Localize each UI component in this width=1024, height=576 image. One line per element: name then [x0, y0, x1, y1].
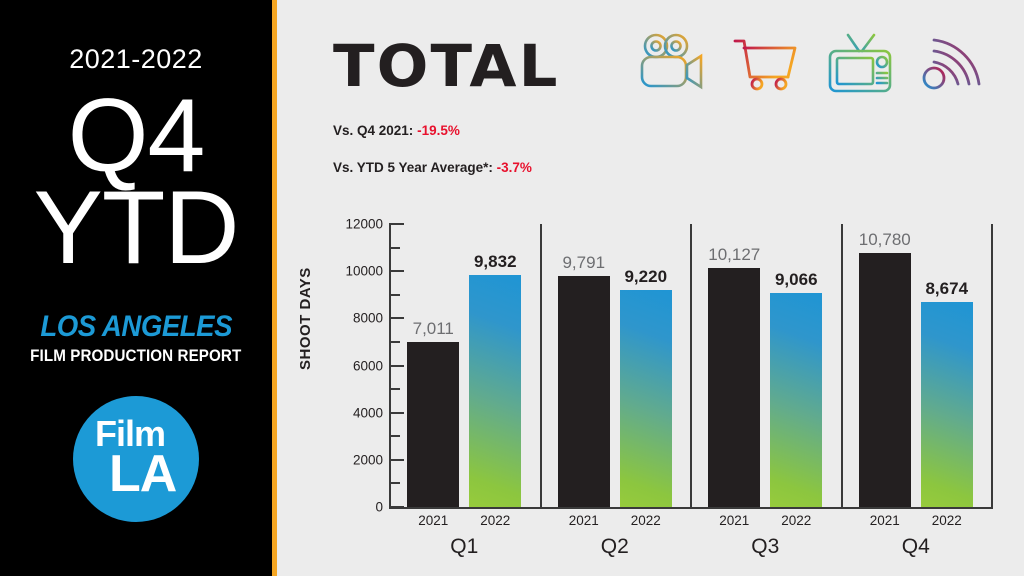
bar-value-label: 10,780 [859, 230, 911, 250]
x-axis-sub-label: 2021 [870, 513, 900, 528]
x-axis-sub-label: 2022 [631, 513, 661, 528]
y-axis-tick-major: 10000 [389, 270, 404, 272]
stat-vs-prior-year: Vs. Q4 2021: -19.5% [333, 123, 460, 138]
report-slide: 2021-2022 Q4 YTD LOS ANGELES FILM PRODUC… [0, 0, 1024, 576]
x-axis-group-label: Q2 [601, 535, 629, 559]
y-axis-tick-label: 0 [375, 500, 383, 515]
y-axis-tick-minor [389, 482, 400, 484]
sidebar: 2021-2022 Q4 YTD LOS ANGELES FILM PRODUC… [0, 0, 272, 576]
wifi-signal-icon [920, 32, 982, 94]
x-axis-sub-label: 2022 [932, 513, 962, 528]
y-axis-tick-major: 6000 [389, 365, 404, 367]
main-content: TOTAL Vs. Q4 2021: -19.5% Vs. YTD 5 Year… [277, 0, 1024, 576]
y-axis-tick-major: 4000 [389, 412, 404, 414]
period-label: 2021-2022 [69, 44, 203, 75]
stat-value: -3.7% [497, 160, 532, 175]
y-axis-tick-major: 2000 [389, 459, 404, 461]
y-axis-tick-major: 8000 [389, 317, 404, 319]
bar-q2-2021: 9,791 [558, 276, 610, 507]
shoot-days-bar-chart: SHOOT DAYS 7,0119,8329,7919,22010,1279,0… [311, 210, 1011, 560]
bar-value-label: 7,011 [413, 319, 454, 339]
y-axis-tick-label: 2000 [353, 452, 383, 467]
bar-q1-2021: 7,011 [407, 342, 459, 507]
y-axis-tick-minor [389, 435, 400, 437]
x-axis-group-label: Q4 [902, 535, 930, 559]
stat-label: Vs. YTD 5 Year Average*: [333, 160, 493, 175]
filmla-logo: Film LA [73, 396, 199, 522]
x-axis-sub-label: 2021 [418, 513, 448, 528]
bar-q4-2021: 10,780 [859, 253, 911, 507]
stat-vs-five-year-average: Vs. YTD 5 Year Average*: -3.7% [333, 160, 532, 175]
y-axis-tick-major: 12000 [389, 223, 404, 225]
stat-label: Vs. Q4 2021: [333, 123, 413, 138]
bar-q1-2022: 9,832 [469, 275, 521, 507]
page-title: TOTAL [333, 32, 560, 100]
y-axis-tick-label: 6000 [353, 358, 383, 373]
brand-city-label: LOS ANGELES [40, 310, 232, 344]
bar-q2-2022: 9,220 [620, 290, 672, 507]
stat-value: -19.5% [417, 123, 460, 138]
bar-value-label: 9,791 [562, 253, 605, 273]
x-axis-group-label: Q1 [450, 535, 478, 559]
x-axis-group-label: Q3 [751, 535, 779, 559]
bar-q3-2021: 10,127 [708, 268, 760, 507]
plot-right-edge [991, 224, 993, 509]
group-separator [690, 224, 692, 509]
y-axis-tick-minor [389, 247, 400, 249]
bar-value-label: 10,127 [708, 245, 760, 265]
logo-la-text: LA [109, 448, 176, 500]
category-icon-row [638, 32, 982, 94]
y-axis-tick-minor [389, 294, 400, 296]
group-separator [841, 224, 843, 509]
bar-value-label: 9,066 [775, 270, 818, 290]
shopping-cart-icon [732, 32, 800, 94]
y-axis-tick-label: 10000 [345, 264, 383, 279]
group-separator [540, 224, 542, 509]
television-icon [826, 32, 894, 94]
bar-value-label: 8,674 [925, 279, 968, 299]
bar-value-label: 9,220 [624, 267, 667, 287]
y-axis-tick-label: 4000 [353, 405, 383, 420]
y-axis-label: SHOOT DAYS [297, 267, 314, 370]
x-axis-sub-label: 2022 [781, 513, 811, 528]
x-axis-sub-label: 2022 [480, 513, 510, 528]
y-axis-tick-minor [389, 388, 400, 390]
y-axis-tick-minor [389, 341, 400, 343]
bar-q4-2022: 8,674 [921, 302, 973, 507]
brand-subtitle-label: FILM PRODUCTION REPORT [30, 347, 241, 366]
movie-camera-icon [638, 32, 706, 94]
scope-heading: YTD [34, 181, 239, 277]
x-axis-sub-label: 2021 [719, 513, 749, 528]
x-axis-sub-label: 2021 [569, 513, 599, 528]
bar-q3-2022: 9,066 [770, 293, 822, 507]
y-axis-tick-major: 0 [389, 506, 404, 508]
y-axis-tick-label: 12000 [345, 217, 383, 232]
bar-value-label: 9,832 [474, 252, 517, 272]
y-axis-tick-label: 8000 [353, 311, 383, 326]
